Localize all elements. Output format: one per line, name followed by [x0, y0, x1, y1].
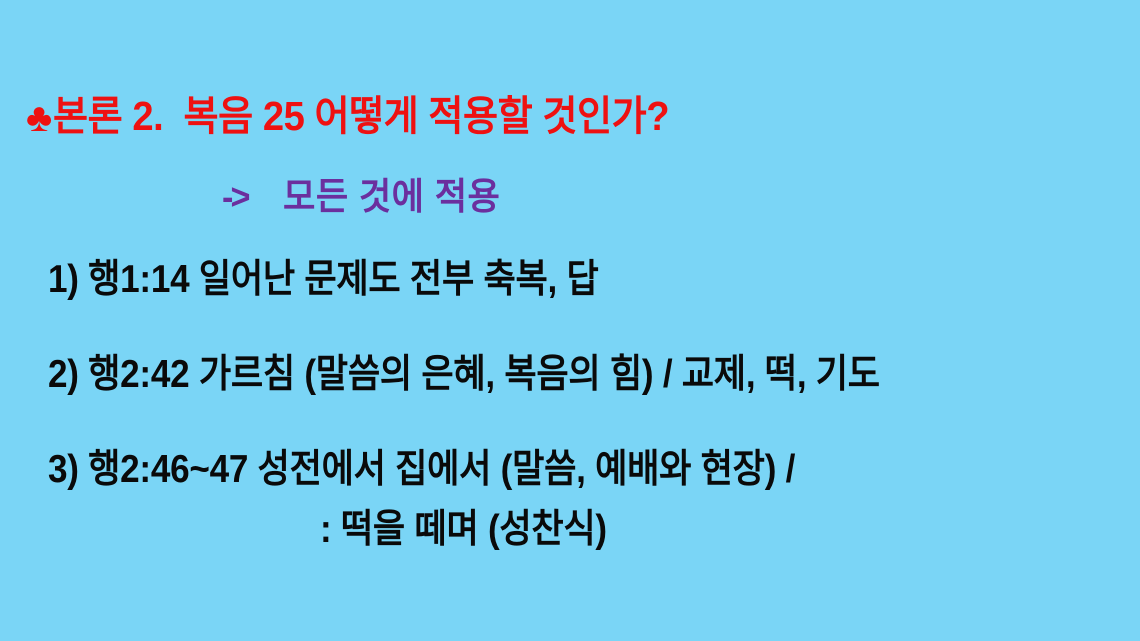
body-line-4: : 떡을 떼며 (성찬식) [320, 510, 607, 549]
slide-title: ♣ 본론 2. 복음 25 어떻게 적용할 것인가? [26, 96, 716, 137]
right-arrow-icon: -> [222, 179, 248, 215]
body-line-2: 2) 행2:42 가르침 (말씀의 은혜, 복음의 힘) / 교제, 떡, 기도 [48, 355, 880, 394]
presentation-slide: ♣ 본론 2. 복음 25 어떻게 적용할 것인가? -> 모든 것에 적용 1… [0, 0, 1140, 641]
body-line-3: 3) 행2:46~47 성전에서 집에서 (말씀, 예배와 현장) / [48, 450, 795, 489]
club-suit-icon: ♣ [26, 98, 52, 138]
slide-subtitle: -> 모든 것에 적용 [222, 178, 512, 215]
slide-title-text: 본론 2. 복음 25 어떻게 적용할 것인가? [53, 96, 669, 137]
body-line-1: 1) 행1:14 일어난 문제도 전부 축복, 답 [48, 260, 598, 299]
slide-subtitle-text: 모든 것에 적용 [283, 178, 500, 215]
